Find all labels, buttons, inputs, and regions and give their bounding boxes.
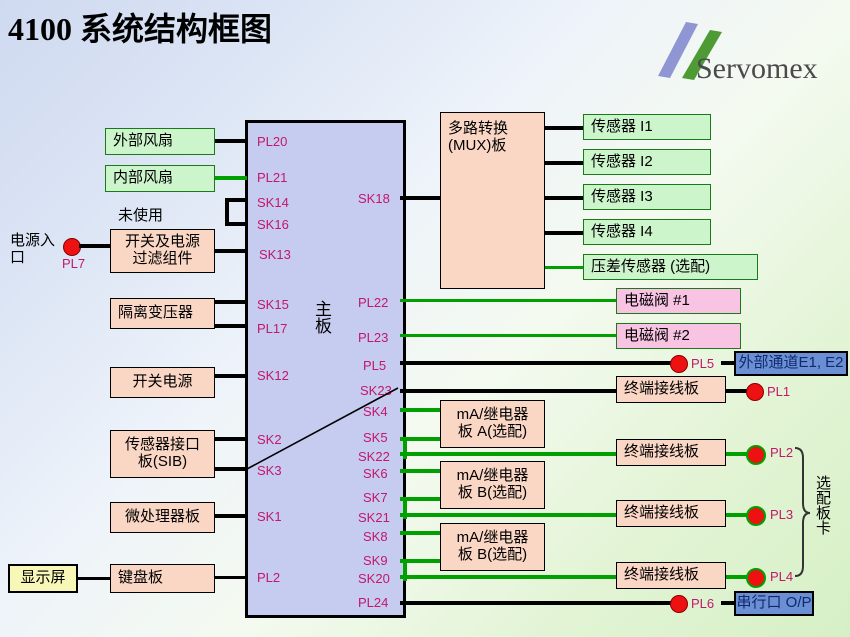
wire-valve-1: [400, 299, 616, 302]
jumper-sk16-bottom: [225, 222, 247, 226]
wire-valve-2: [400, 334, 616, 337]
wire-keyboard-board: [215, 576, 247, 579]
pin-pl5: PL5: [363, 358, 386, 373]
pin-pl20: PL20: [257, 134, 287, 149]
pin-sk2: SK2: [257, 432, 282, 447]
box-relay-b1-line1: mA/继电器: [457, 468, 529, 485]
servomex-logo: Servomex: [636, 14, 848, 92]
wire-sib-sk3: [215, 467, 247, 471]
pin-sk20: SK20: [358, 571, 390, 586]
box-sensor-i1: 传感器 I1: [583, 114, 711, 140]
pin-sk5: SK5: [363, 430, 388, 445]
wire-pl24: [400, 601, 678, 605]
option-cards-brace: [795, 448, 810, 576]
pin-sk16: SK16: [257, 217, 289, 232]
wire-terminal-board-3: [400, 513, 616, 517]
box-solenoid-valve-1: 电磁阀 #1: [616, 288, 741, 314]
box-mux: 多路转换 (MUX)板: [440, 112, 545, 289]
pin-sk7: SK7: [363, 490, 388, 505]
pin-sk21: SK21: [358, 510, 390, 525]
box-terminal-board-3: 终端接线板: [616, 500, 726, 527]
pin-sk3: SK3: [257, 463, 282, 478]
connector-pl6-dot[interactable]: [670, 595, 688, 613]
wire-switch-power-supply: [215, 374, 247, 378]
wire-relay-a-sk4: [400, 408, 440, 412]
pin-pl24: PL24: [358, 595, 388, 610]
wire-display-keyboard: [78, 577, 110, 580]
wire-relay-b2-sk8: [400, 531, 440, 535]
wire-internal-fan: [215, 176, 247, 180]
box-mux-line1: 多路转换: [448, 121, 508, 138]
pin-pl17: PL17: [257, 321, 287, 336]
connector-pl7-label: PL7: [62, 256, 85, 271]
box-serial-port: 串行口 O/P: [734, 591, 814, 616]
box-sib-line1: 传感器接口: [125, 437, 200, 454]
box-sib-line2: 板(SIB): [138, 454, 187, 471]
box-sensor-i3: 传感器 I3: [583, 184, 711, 210]
box-sensor-interface-board: 传感器接口 板(SIB): [110, 430, 215, 478]
connector-pl1-label: PL1: [767, 384, 790, 399]
wire-terminal-board-2: [400, 452, 616, 456]
wire-external-fan: [215, 139, 247, 143]
wire-sensor-i2: [545, 161, 583, 165]
wire-pl5-to-external-channel: [721, 361, 734, 365]
connector-pl4-label: PL4: [770, 569, 793, 584]
wire-pl6-to-serial-port: [721, 601, 734, 605]
box-relay-board-b1: mA/继电器 板 B(选配): [440, 461, 545, 509]
system-block-diagram: 4100 系统结构框图 Servomex 主板 PL20 PL21 SK14 S…: [0, 0, 850, 637]
pin-sk23: SK23: [360, 383, 392, 398]
pin-sk9: SK9: [363, 553, 388, 568]
logo-wordmark: Servomex: [696, 52, 818, 86]
box-relay-a-line2: 板 A(选配): [458, 424, 527, 441]
connector-pl2-dot[interactable]: [746, 445, 766, 465]
box-sensor-i4: 传感器 I4: [583, 219, 711, 245]
box-solenoid-valve-2: 电磁阀 #2: [616, 323, 741, 349]
pin-sk14: SK14: [257, 195, 289, 210]
wire-microprocessor-board: [215, 514, 247, 518]
box-switch-power-filter-line2: 过滤组件: [132, 251, 192, 268]
box-microprocessor-board: 微处理器板: [110, 502, 215, 533]
connector-pl3-dot[interactable]: [746, 506, 766, 526]
pin-sk18: SK18: [358, 191, 390, 206]
wire-differential-pressure-sensor: [545, 266, 583, 269]
wire-pl2: [726, 452, 748, 456]
connector-pl5-dot[interactable]: [670, 355, 688, 373]
box-internal-fan: 内部风扇: [105, 165, 215, 192]
connector-pl5-label: PL5: [691, 356, 714, 371]
box-differential-pressure-sensor: 压差传感器 (选配): [583, 254, 758, 280]
wire-pl5: [400, 361, 673, 365]
wire-pl4: [726, 575, 748, 579]
box-external-fan: 外部风扇: [105, 128, 215, 155]
power-inlet-label: 电源入口: [10, 232, 55, 267]
pin-sk12: SK12: [257, 368, 289, 383]
box-switch-power-filter: 开关及电源 过滤组件: [110, 229, 215, 273]
wire-terminal-board-1: [400, 389, 616, 393]
box-keyboard-board: 键盘板: [110, 564, 215, 593]
pin-pl2: PL2: [257, 570, 280, 585]
wire-terminal-board-4: [400, 575, 616, 579]
main-board-label: 主板: [309, 300, 334, 334]
connector-pl2-label: PL2: [770, 445, 793, 460]
pin-sk1: SK1: [257, 509, 282, 524]
box-switch-power-supply: 开关电源: [110, 367, 215, 398]
box-terminal-board-4: 终端接线板: [616, 562, 726, 589]
box-mux-line2: (MUX)板: [448, 138, 506, 155]
option-cards-label: 选配板卡: [812, 475, 833, 535]
connector-pl3-label: PL3: [770, 507, 793, 522]
pin-pl22: PL22: [358, 295, 388, 310]
pin-sk6: SK6: [363, 466, 388, 481]
box-relay-b2-line1: mA/继电器: [457, 530, 529, 547]
wire-relay-b1-sk6: [400, 469, 440, 473]
wire-sensor-i1: [545, 126, 583, 130]
wire-pl1: [726, 389, 748, 393]
box-relay-board-a: mA/继电器 板 A(选配): [440, 400, 545, 448]
unused-label: 未使用: [118, 204, 163, 225]
wire-isolation-transformer-pl17: [215, 324, 247, 328]
box-display-screen: 显示屏: [8, 564, 78, 593]
box-relay-a-line1: mA/继电器: [457, 407, 529, 424]
connector-pl1-dot[interactable]: [746, 383, 764, 401]
box-isolation-transformer: 隔离变压器: [110, 298, 215, 329]
box-terminal-board-1: 终端接线板: [616, 376, 726, 403]
box-terminal-board-2: 终端接线板: [616, 439, 726, 466]
pin-sk22: SK22: [358, 449, 390, 464]
box-relay-b2-line2: 板 B(选配): [458, 547, 527, 564]
wire-sensor-i3: [545, 196, 583, 200]
pin-sk8: SK8: [363, 529, 388, 544]
wire-sib-sk2: [215, 437, 247, 441]
wire-sensor-i4: [545, 231, 583, 235]
wire-pl7: [79, 244, 112, 248]
box-external-channel: 外部通道E1, E2: [734, 351, 848, 376]
pin-pl23: PL23: [358, 330, 388, 345]
box-relay-board-b2: mA/继电器 板 B(选配): [440, 523, 545, 571]
pin-pl21: PL21: [257, 170, 287, 185]
pin-sk13: SK13: [259, 247, 291, 262]
page-title: 4100 系统结构框图: [8, 4, 272, 50]
box-relay-b1-line2: 板 B(选配): [458, 485, 527, 502]
pin-sk15: SK15: [257, 297, 289, 312]
wire-pl3: [726, 513, 748, 517]
connector-pl4-dot[interactable]: [746, 568, 766, 588]
pin-sk4: SK4: [363, 404, 388, 419]
wire-isolation-transformer-sk15: [215, 300, 247, 304]
wire-mainboard-mux: [400, 196, 440, 200]
connector-pl6-label: PL6: [691, 596, 714, 611]
box-switch-power-filter-line1: 开关及电源: [125, 234, 200, 251]
box-sensor-i2: 传感器 I2: [583, 149, 711, 175]
wire-switch-power-filter: [215, 249, 247, 253]
